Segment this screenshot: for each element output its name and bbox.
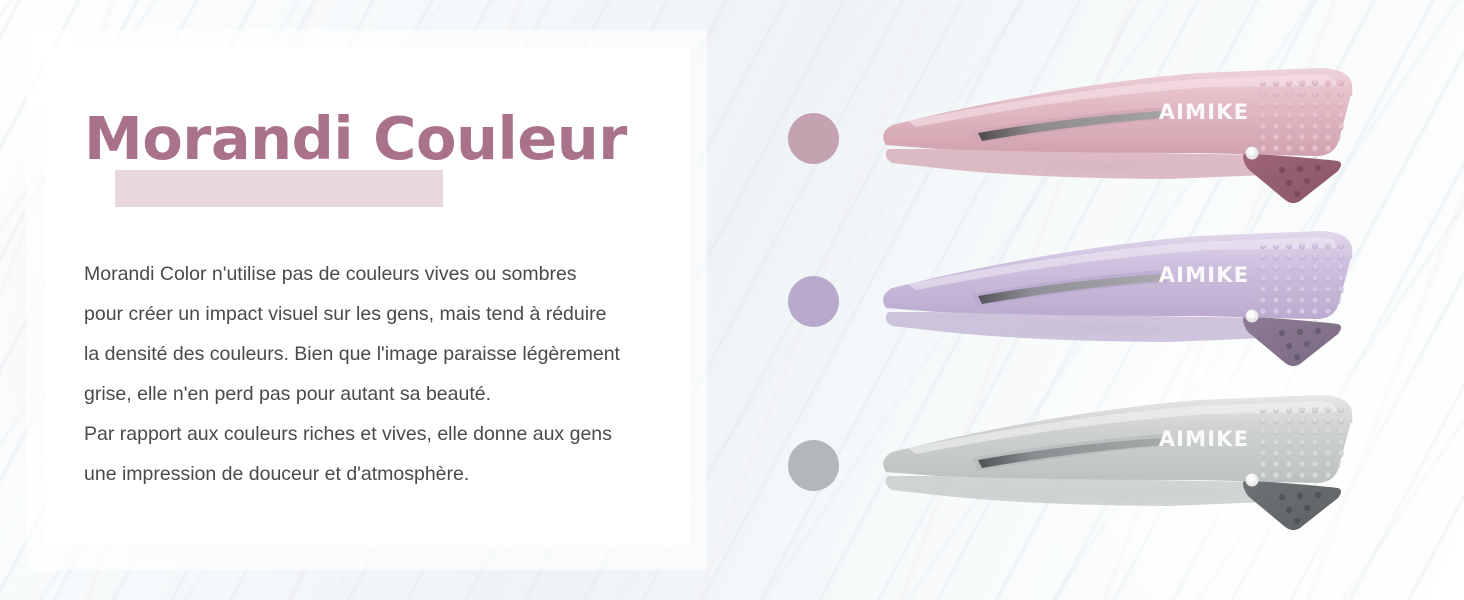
description-line: une impression de douceur et d'atmosphèr… [84,454,704,494]
clip-lower-jaw [886,312,1266,342]
color-swatch-pink[interactable] [788,113,839,164]
clip-grip-texture [1248,400,1360,492]
description-line: la densité des couleurs. Bien que l'imag… [84,334,704,374]
clip-tail [1243,316,1341,366]
clip-grip-texture [1248,73,1360,165]
description-line: Morandi Color n'utilise pas de couleurs … [84,254,704,294]
brand-logo-text: AIMIKE [1159,100,1250,124]
title-highlight-bar [115,170,443,207]
brand-logo-text: AIMIKE [1159,427,1250,451]
product-showcase: AIMIKE [760,0,1464,600]
clip-tail [1243,153,1341,203]
text-card-content: Morandi Couleur Morandi Color n'utilise … [84,108,704,494]
product-row: AIMIKE [760,364,1464,564]
product-banner: Morandi Couleur Morandi Color n'utilise … [0,0,1464,600]
description-line: grise, elle n'en perd pas pour autant sa… [84,374,704,414]
clip-lower-jaw [886,149,1266,179]
brand-logo-text: AIMIKE [1159,263,1250,287]
color-swatch-grey[interactable] [788,440,839,491]
description-paragraph: Morandi Color n'utilise pas de couleurs … [84,254,704,494]
grey-hair-clip[interactable]: AIMIKE [868,384,1368,544]
clip-tail [1243,480,1341,530]
description-line: Par rapport aux couleurs riches et vives… [84,414,704,454]
page-title-wrap: Morandi Couleur [84,108,704,208]
color-swatch-lavender[interactable] [788,276,839,327]
lavender-hair-clip[interactable]: AIMIKE [868,220,1368,380]
page-title: Morandi Couleur [84,108,704,170]
pink-hair-clip[interactable]: AIMIKE [868,57,1368,217]
description-line: pour créer un impact visuel sur les gens… [84,294,704,334]
clip-grip-texture [1248,236,1360,328]
clip-lower-jaw [886,476,1266,506]
